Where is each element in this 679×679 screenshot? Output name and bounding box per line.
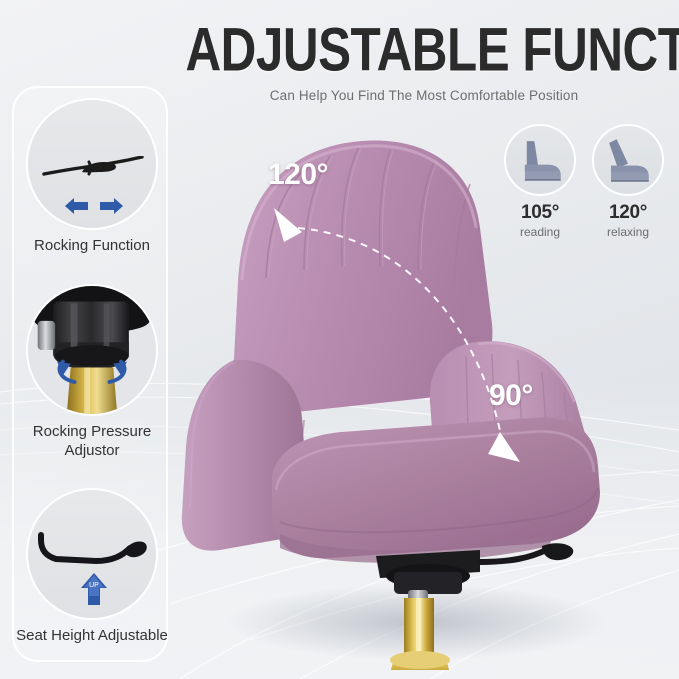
page-title: ADJUSTABLE FUNCTION <box>170 20 678 72</box>
up-arrow-icon: UP <box>80 572 108 606</box>
up-arrow-label: UP <box>89 582 99 589</box>
feature-label: Seat Height Adjustable <box>14 626 170 645</box>
rocking-lever-icon <box>42 156 146 182</box>
page-subtitle: Can Help You Find The Most Comfortable P… <box>170 88 678 103</box>
height-lever-icon <box>38 530 150 570</box>
infographic-canvas: ADJUSTABLE FUNCTION Can Help You Find Th… <box>0 0 679 679</box>
feature-label: Rocking Pressure Adjustor <box>14 422 170 460</box>
double-arrow-horizontal-icon <box>64 196 124 216</box>
feature-rocking-pressure-adjustor[interactable]: Rocking Pressure Adjustor <box>14 284 170 460</box>
feature-seat-height-adjustable[interactable]: UP Seat Height Adjustable <box>14 488 170 645</box>
angle-callout-90: 90° <box>489 379 533 413</box>
feature-icon-circle <box>26 98 158 230</box>
feature-rail: Rocking Function <box>12 86 168 662</box>
tension-knob-icon <box>28 286 156 414</box>
feature-rocking-function[interactable]: Rocking Function <box>14 98 170 255</box>
page-title-text: ADJUSTABLE FUNCTION <box>185 20 679 81</box>
feature-icon-circle <box>26 284 158 416</box>
feature-icon-circle: UP <box>26 488 158 620</box>
feature-label: Rocking Function <box>14 236 170 255</box>
angle-callout-120: 120° <box>268 158 328 192</box>
swivel-office-chair <box>180 110 640 670</box>
